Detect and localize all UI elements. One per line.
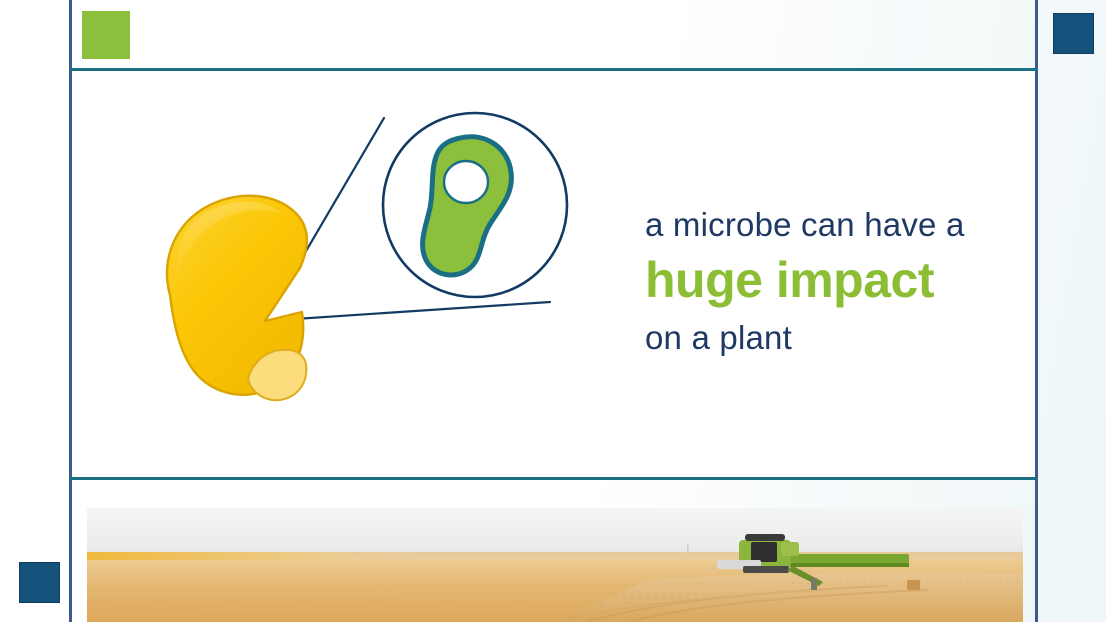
horizon-pole bbox=[687, 544, 689, 554]
slide-canvas: a microbe can have a huge impact on a pl… bbox=[0, 0, 1106, 622]
seed-shape bbox=[167, 196, 307, 400]
seed-microbe-illustration bbox=[130, 90, 610, 430]
sky bbox=[87, 508, 1023, 558]
headline-block: a microbe can have a huge impact on a pl… bbox=[645, 208, 1025, 354]
frame-rule-bottom bbox=[69, 477, 1038, 480]
blue-accent-square-bottom-left bbox=[19, 562, 60, 603]
hay-bale bbox=[907, 580, 920, 590]
nucleoid bbox=[444, 161, 488, 203]
headline-line-2-emphasis: huge impact bbox=[645, 255, 1025, 305]
headline-line-1: a microbe can have a bbox=[645, 208, 1025, 241]
horizon-band bbox=[87, 552, 427, 560]
harvester-cab bbox=[751, 542, 777, 562]
wheat-field-harvest-photo bbox=[87, 508, 1023, 622]
green-accent-square bbox=[82, 11, 130, 59]
headline-line-3: on a plant bbox=[645, 321, 1025, 354]
frame-rule-right bbox=[1035, 0, 1038, 622]
blue-accent-square-top-right bbox=[1053, 13, 1094, 54]
